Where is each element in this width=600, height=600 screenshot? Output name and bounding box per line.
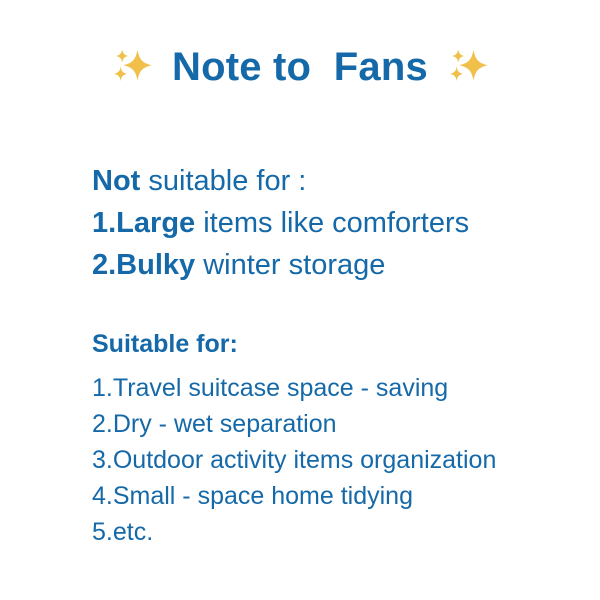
suitable-section: Suitable for: 1.Travel suitcase space - … [92,326,562,550]
not-suitable-item-bold: 2.Bulky [92,249,195,281]
suitable-heading: Suitable for: [92,326,562,362]
not-suitable-heading: Not suitable for : [92,160,562,202]
note-to-fans-graphic: Note to Fans Not suitable for : 1.Large … [0,0,600,600]
not-suitable-heading-rest: suitable for : [140,165,306,197]
suitable-item: 3.Outdoor activity items organization [92,442,562,478]
page-title: Note to Fans [172,45,428,89]
not-suitable-item-bold: 1.Large [92,207,195,239]
suitable-item: 4.Small - space home tidying [92,478,562,514]
not-suitable-item-rest: winter storage [195,249,385,281]
sparkles-icon [109,44,155,90]
not-suitable-section: Not suitable for : 1.Large items like co… [92,160,562,286]
sparkles-icon [445,44,491,90]
title-row: Note to Fans [0,44,600,90]
suitable-item: 1.Travel suitcase space - saving [92,370,562,406]
not-suitable-item: 1.Large items like comforters [92,202,562,244]
not-suitable-heading-bold: Not [92,165,140,197]
not-suitable-item: 2.Bulky winter storage [92,244,562,286]
suitable-item: 2.Dry - wet separation [92,406,562,442]
not-suitable-item-rest: items like comforters [195,207,469,239]
suitable-item: 5.etc. [92,514,562,550]
